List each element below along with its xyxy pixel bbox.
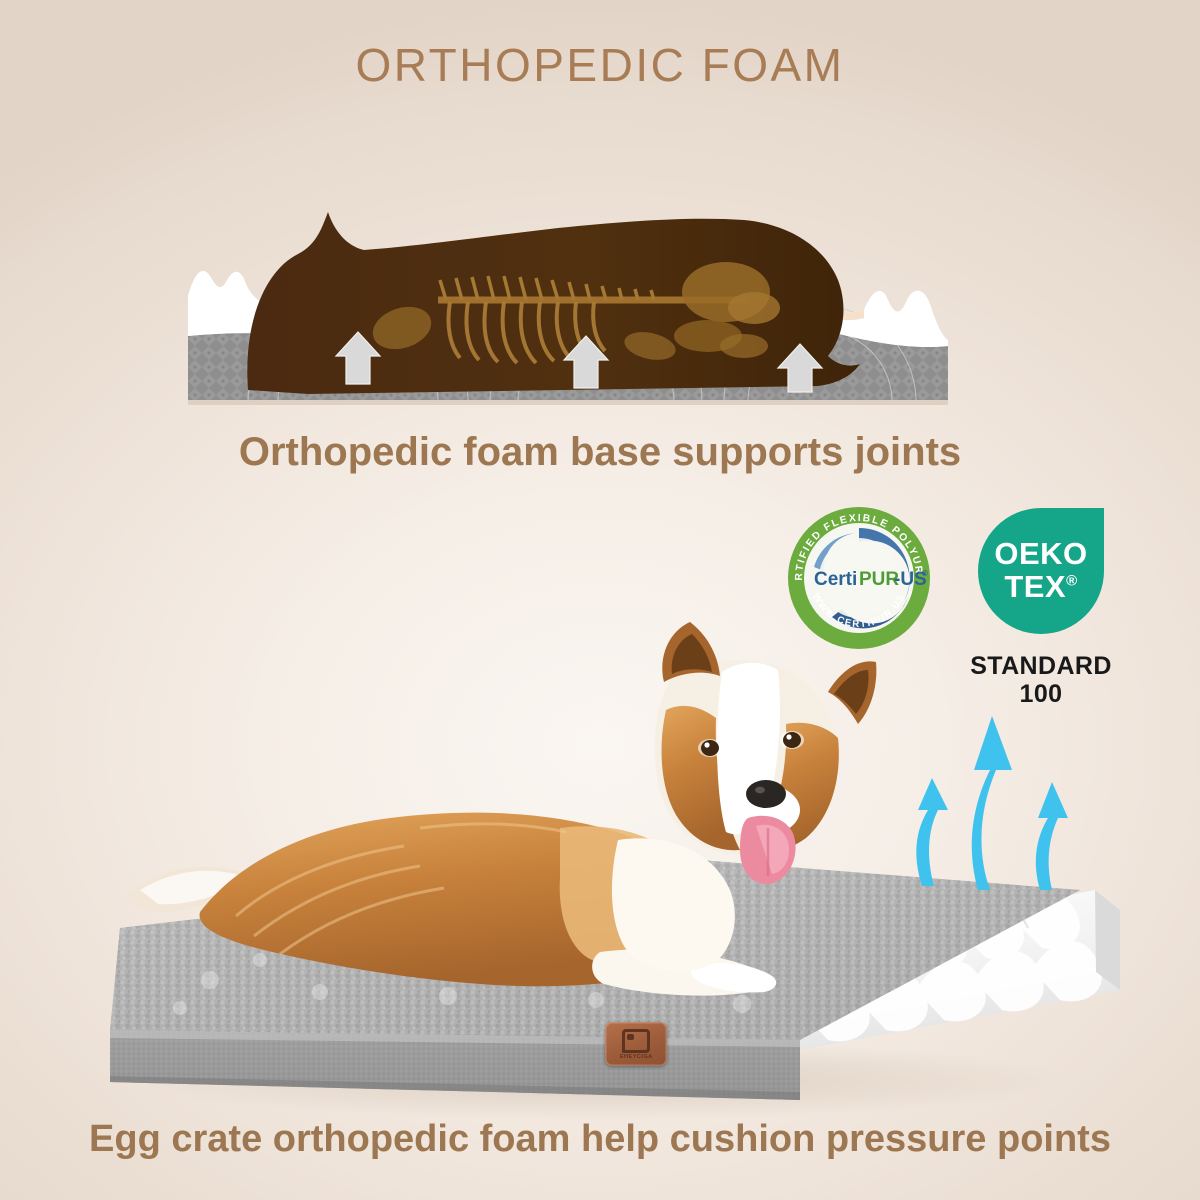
caption-top: Orthopedic foam base supports joints: [0, 430, 1200, 475]
caption-bottom: Egg crate orthopedic foam help cushion p…: [0, 1118, 1200, 1161]
breathability-arrow-group: [900, 690, 1090, 890]
airflow-arrow: [972, 716, 1012, 890]
brand-logo-icon: [622, 1029, 650, 1053]
airflow-arrow: [1036, 782, 1068, 890]
dog-xray-silhouette: [247, 212, 860, 394]
page-title: ORTHOPEDIC FOAM: [0, 38, 1200, 92]
brand-logo-patch: EHEYCIGA: [605, 1022, 667, 1066]
dog-eye-right: [783, 732, 801, 748]
brand-name-label: EHEYCIGA: [620, 1054, 653, 1060]
foam-cross-section-diagram: [188, 150, 948, 410]
dog-nose: [746, 780, 786, 808]
airflow-arrow: [916, 778, 948, 886]
product-infographic: ORTHOPEDIC FOAM: [0, 0, 1200, 1200]
dog-eye-left: [701, 740, 719, 756]
